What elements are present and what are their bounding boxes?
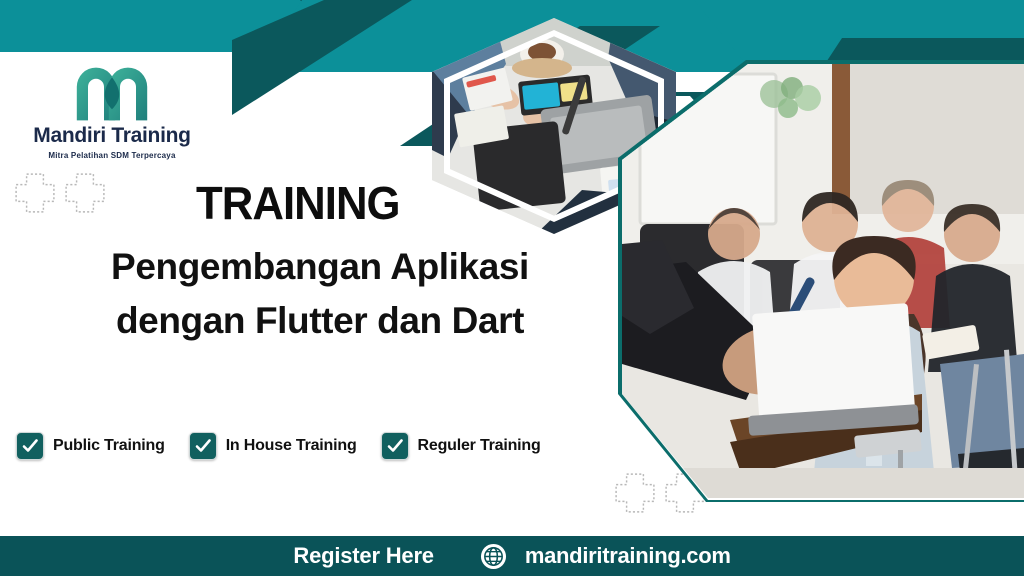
title-line-1: Pengembangan Aplikasi — [60, 240, 580, 294]
register-here-cta[interactable]: Register Here — [293, 543, 433, 569]
check-label: Public Training — [53, 437, 165, 455]
mandiri-m-logo-icon — [72, 58, 152, 122]
website-url[interactable]: mandiritraining.com — [525, 543, 731, 569]
classroom-training-photo — [622, 64, 1024, 498]
checkmark-icon — [386, 437, 404, 455]
training-type-list: Public Training In House Training Regule… — [16, 432, 541, 460]
brand-tagline: Mitra Pelatihan SDM Terpercaya — [22, 151, 202, 160]
cross-icon — [64, 172, 106, 214]
brand-logo: Mandiri Training Mitra Pelatihan SDM Ter… — [22, 58, 202, 160]
footer-bar: Register Here mandiritraining.com — [0, 536, 1024, 576]
checkmark-icon — [194, 437, 212, 455]
classroom-photo-art — [622, 64, 1024, 498]
checkbox-public-training[interactable] — [16, 432, 44, 460]
brand-name: Mandiri Training — [22, 124, 202, 148]
check-item-in-house-training[interactable]: In House Training — [189, 432, 357, 460]
website-group[interactable]: mandiritraining.com — [480, 543, 731, 570]
checkbox-reguler-training[interactable] — [381, 432, 409, 460]
check-item-reguler-training[interactable]: Reguler Training — [381, 432, 541, 460]
cross-icon — [614, 472, 656, 514]
decorative-crosses-left — [14, 172, 106, 214]
check-label: Reguler Training — [418, 437, 541, 455]
page-title: Pengembangan Aplikasi dengan Flutter dan… — [60, 240, 580, 347]
checkbox-in-house-training[interactable] — [189, 432, 217, 460]
poster-canvas: Mandiri Training Mitra Pelatihan SDM Ter… — [0, 0, 1024, 576]
checkmark-icon — [21, 437, 39, 455]
cross-icon — [14, 172, 56, 214]
check-label: In House Training — [226, 437, 357, 455]
globe-icon — [480, 543, 507, 570]
check-item-public-training[interactable]: Public Training — [16, 432, 165, 460]
title-line-2: dengan Flutter dan Dart — [60, 294, 580, 348]
eyebrow-heading: TRAINING — [196, 176, 400, 230]
